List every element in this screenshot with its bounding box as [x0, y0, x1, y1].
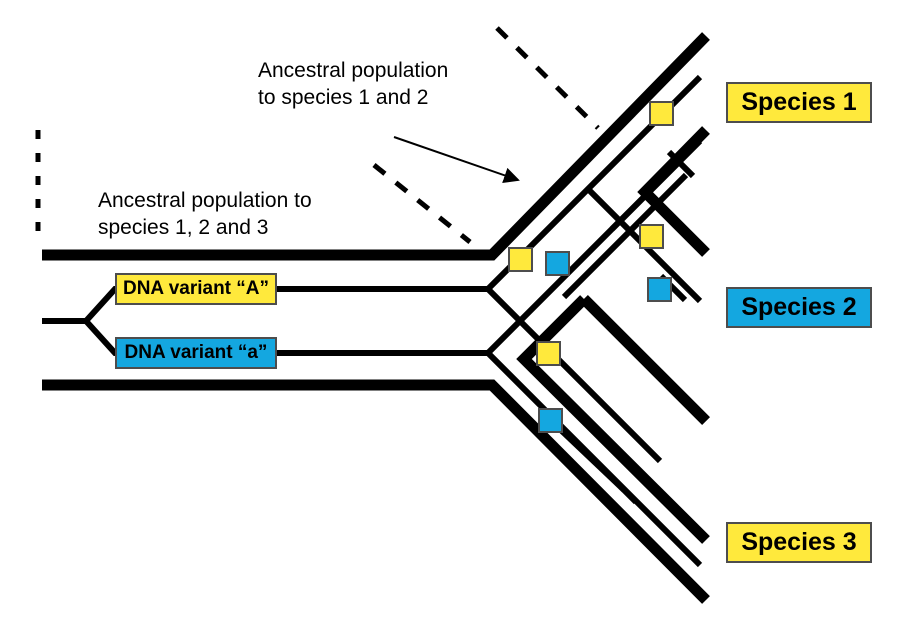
marker-blue-trunk: [546, 252, 569, 275]
marker-yellow-lower: [537, 342, 560, 365]
species-3-label: Species 3: [726, 522, 872, 563]
species-2-label: Species 2: [726, 287, 872, 328]
marker-blue-species3: [539, 409, 562, 432]
species-1-label: Species 1: [726, 82, 872, 123]
marker-yellow-trunk: [509, 248, 532, 271]
marker-blue-species2: [648, 278, 671, 301]
marker-yellow-species1: [650, 102, 673, 125]
marker-yellow-species2-up: [640, 225, 663, 248]
gene-tree-species-tree-figure: Ancestral population to species 1 and 2 …: [0, 0, 900, 626]
